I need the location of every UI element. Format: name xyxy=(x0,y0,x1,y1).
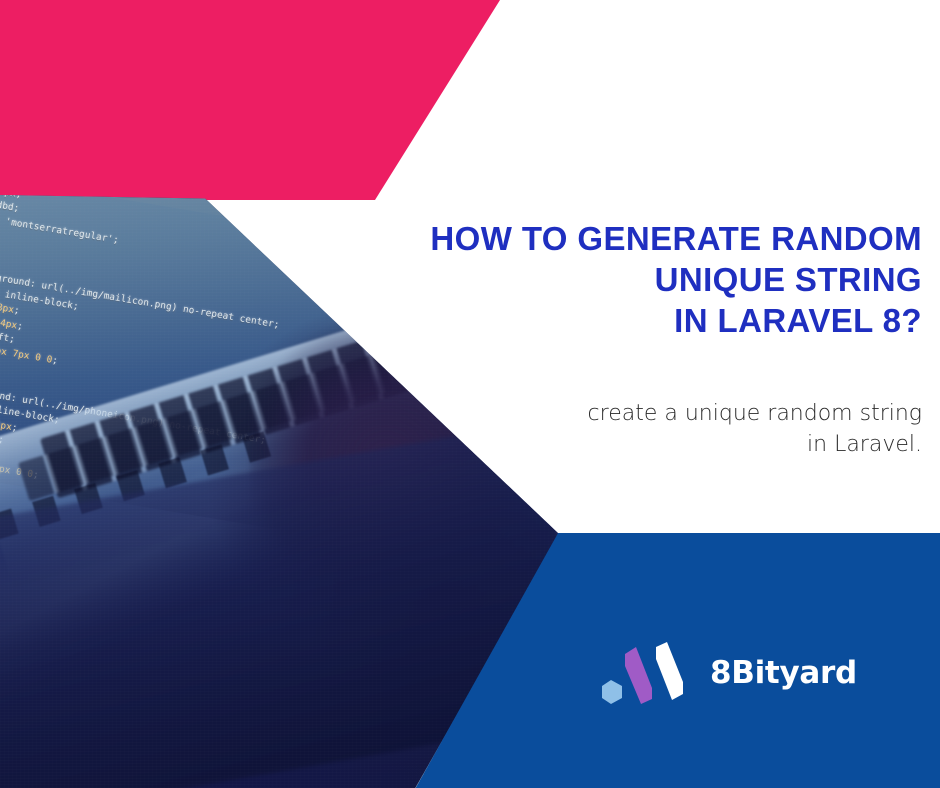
brand-wordmark: 8Bityard xyxy=(710,658,857,689)
8bityard-m-mark-icon xyxy=(600,642,692,704)
subtitle-line-1: create a unique random string xyxy=(442,398,922,429)
title-line-2: UNIQUE STRING xyxy=(362,259,922,300)
brand-logo: 8Bityard xyxy=(600,642,857,704)
subtitle-line-2: in Laravel. xyxy=(442,429,922,460)
page-title: HOW TO GENERATE RANDOM UNIQUE STRING IN … xyxy=(362,218,922,341)
pink-accent-wedge xyxy=(0,0,500,200)
title-line-1: HOW TO GENERATE RANDOM xyxy=(362,218,922,259)
page-subtitle: create a unique random string in Laravel… xyxy=(442,398,922,460)
blog-banner: -size: 22px; or: #bdbdbd; t-family: 'mon… xyxy=(0,0,940,788)
title-line-3: IN LARAVEL 8? xyxy=(362,300,922,341)
